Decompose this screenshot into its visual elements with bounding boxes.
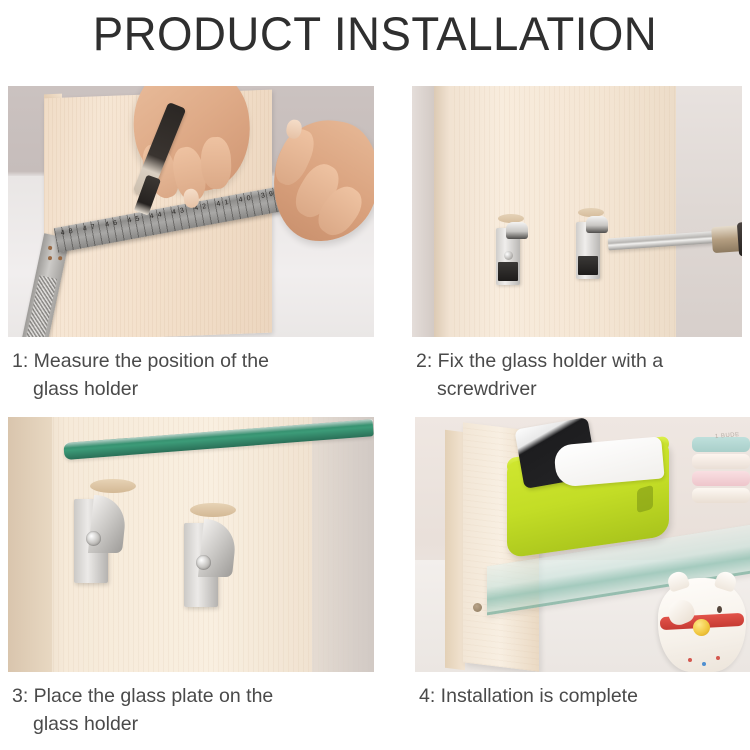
panel-right-shadow [312,417,374,672]
bracket-dark-face [498,262,518,281]
step-caption-4-line1: 4: Installation is complete [419,685,638,707]
glass-holder-bracket-right [576,216,605,279]
step-caption-3: 3: Place the glass plate on the glass ho… [8,672,374,738]
bracket-arm [506,222,528,239]
page-title: PRODUCT INSTALLATION [11,6,739,62]
photo-measure-position: 48 47 46 45 44 43 42 41 40 39 38 37 36 3… [8,86,374,337]
step-caption-3-line1: 3: Place the glass plate on the [12,685,273,707]
panel-edge [434,86,450,337]
bracket-screw [86,531,101,546]
glass-holder-bracket-left [496,222,525,285]
bracket-screw [196,555,211,570]
bracket-screw [504,251,513,260]
basket-handle-cutout [637,485,653,513]
wooden-panel [434,86,676,337]
step-caption-2-line1: 2: Fix the glass holder with a [416,350,663,372]
drill-hole [473,603,482,612]
bracket-dark-face [578,256,598,275]
step-caption-1-line1: 1: Measure the position of the [12,350,269,372]
installation-infographic: PRODUCT INSTALLATION 48 47 46 45 44 43 4… [0,0,750,750]
bracket-arm [586,216,608,233]
step-caption-2-line2: screwdriver [416,375,742,403]
board-side-edge [445,430,465,670]
photo-place-glass-plate [8,417,374,672]
step-caption-1-line2: glass holder [12,375,374,403]
cat-bell [693,619,710,636]
step-card-2: 2: Fix the glass holder with a screwdriv… [412,86,742,403]
step-caption-4: 4: Installation is complete [415,672,750,710]
step-card-1: 48 47 46 45 44 43 42 41 40 39 38 37 36 3… [8,86,374,403]
panel-left-edge [8,417,52,672]
folded-towels-stack [692,437,750,509]
left-wall-strip [412,86,434,337]
glass-holder-bracket-right [184,515,246,607]
step-caption-3-line2: glass holder [12,710,374,738]
step-card-4: 1 BUDE 4: Installation is complete [415,417,750,710]
photo-installation-complete: 1 BUDE [415,417,750,672]
step-card-3: 3: Place the glass plate on the glass ho… [8,417,374,738]
glass-holder-bracket-left [74,491,136,583]
step-caption-1: 1: Measure the position of the glass hol… [8,337,374,403]
photo-fix-holder-screwdriver [412,86,742,337]
step-caption-2: 2: Fix the glass holder with a screwdriv… [412,337,742,403]
